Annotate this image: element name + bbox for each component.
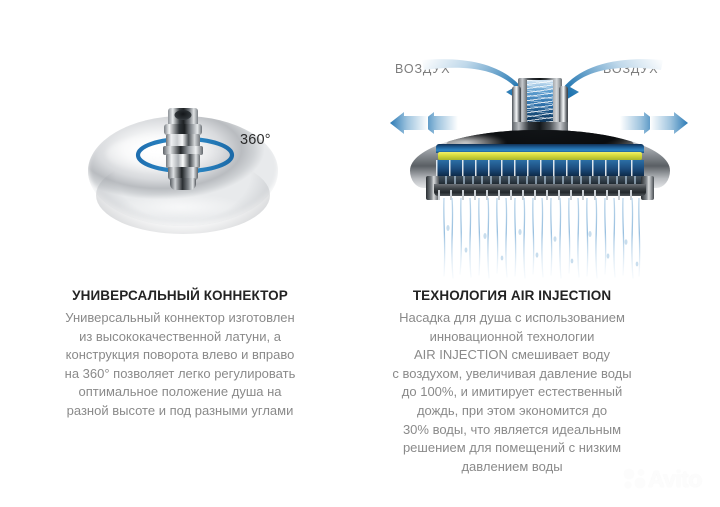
connector-base <box>170 178 196 190</box>
left-body-line-2: из высококачественной латуни, а <box>30 328 330 347</box>
avito-watermark-text: Avito <box>648 468 702 491</box>
right-body-line-5: до 100%, и имитирует естественный <box>362 383 662 402</box>
connector-bore <box>175 110 192 120</box>
right-body-line-2: инновационной технологии <box>362 328 662 347</box>
panel-universal-connector: 360° УНИВЕРСАЛЬНЫЙ КОННЕКТОР Универсальн… <box>0 0 360 507</box>
avito-logo-icon <box>622 468 648 490</box>
left-body-line-6: разной высоте и под разными углами <box>30 402 330 421</box>
right-body-line-8: решением для помещений с низким <box>362 439 662 458</box>
shower-head-cutaway-illustration <box>400 78 680 278</box>
left-body-line-4: на 360° позволяет легко регулировать <box>30 365 330 384</box>
right-body-line-9: давлением воды <box>362 458 662 477</box>
diffuser-plate <box>438 152 642 160</box>
left-block-title: УНИВЕРСАЛЬНЫЙ КОННЕКТОР <box>30 288 330 303</box>
right-body-line-4: с воздухом, увеличивая давление воды <box>362 365 662 384</box>
right-body-line-6: дождь, при этом экономится до <box>362 402 662 421</box>
inlet-cap-right <box>559 86 568 126</box>
left-text-block: УНИВЕРСАЛЬНЫЙ КОННЕКТОР Универсальный ко… <box>30 288 330 421</box>
infographic-canvas: 360° УНИВЕРСАЛЬНЫЙ КОННЕКТОР Универсальн… <box>0 0 720 507</box>
right-text-block: ТЕХНОЛОГИЯ AIR INJECTION Насадка для душ… <box>362 288 662 476</box>
internal-cutaway-view <box>436 144 644 186</box>
water-spray-streams <box>438 198 644 280</box>
avito-watermark: Avito <box>622 464 708 494</box>
left-body-line-3: конструкция поворота влево и вправо <box>30 346 330 365</box>
inlet-cap-left <box>512 86 521 126</box>
left-body-line-1: Универсальный коннектор изготовлен <box>30 309 330 328</box>
right-block-title: ТЕХНОЛОГИЯ AIR INJECTION <box>362 288 662 303</box>
panel-air-injection: ВОЗДУХ ВОЗДУХ <box>360 0 720 507</box>
right-block-body: Насадка для душа с использованиеминновац… <box>362 309 662 476</box>
swivel-connector <box>161 108 205 192</box>
connector-ring-4 <box>166 154 200 168</box>
air-water-chamber <box>436 160 644 176</box>
right-body-line-7: 30% воды, что является идеальным <box>362 421 662 440</box>
right-body-line-3: AIR INJECTION смешивает воду <box>362 346 662 365</box>
left-body-line-5: оптимальное положение душа на <box>30 383 330 402</box>
rotation-degree-label: 360° <box>240 132 271 148</box>
inlet-water-flow <box>527 80 553 126</box>
shower-disc-illustration: 360° <box>88 108 278 233</box>
left-block-body: Универсальный коннектор изготовлениз выс… <box>30 309 330 421</box>
right-body-line-1: Насадка для душа с использованием <box>362 309 662 328</box>
